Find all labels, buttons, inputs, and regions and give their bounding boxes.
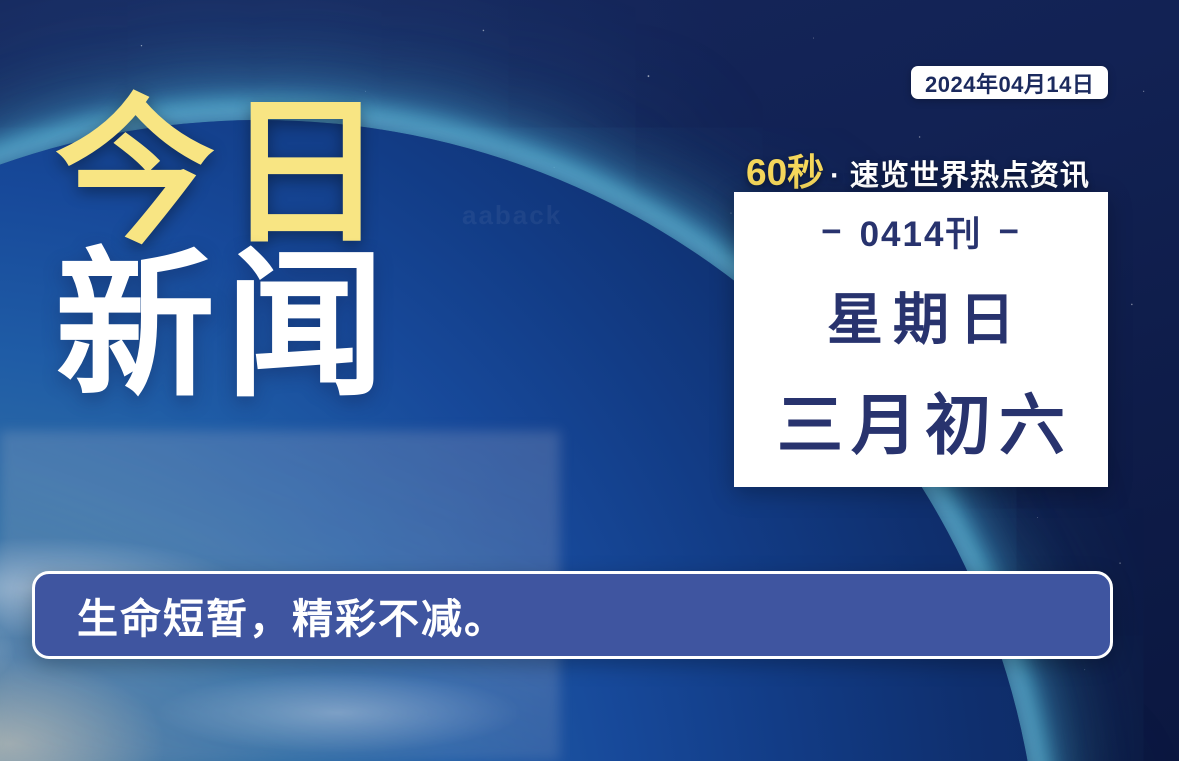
- page-title-line2: 新闻: [55, 244, 395, 407]
- poster-title: 今日 新闻: [55, 96, 395, 407]
- issue-number: 0414刊: [860, 206, 983, 257]
- background-watermark: aaback: [462, 200, 562, 231]
- page-title-line1: 今日: [55, 96, 395, 250]
- news-poster: aaback 今日 新闻 2024年04月14日 60秒 · 速览世界热点资讯 …: [0, 0, 1179, 761]
- issue-info-card: − 0414刊 − 星期日 三月初六: [734, 192, 1108, 487]
- tagline-seconds: 60秒: [746, 142, 824, 196]
- date-badge: 2024年04月14日: [911, 66, 1108, 99]
- lunar-date-label: 三月初六: [769, 372, 1073, 468]
- weekday-label: 星期日: [817, 275, 1025, 356]
- quote-banner-text: 生命短暂，精彩不减。: [77, 585, 507, 645]
- tagline: 60秒 · 速览世界热点资讯: [746, 142, 1090, 196]
- tagline-rest: · 速览世界热点资讯: [830, 152, 1090, 194]
- issue-dash-right: −: [998, 212, 1020, 252]
- issue-row: − 0414刊 −: [821, 206, 1021, 257]
- issue-dash-left: −: [821, 212, 843, 252]
- quote-banner: 生命短暂，精彩不减。: [32, 571, 1113, 659]
- date-badge-label: 2024年04月14日: [925, 67, 1094, 99]
